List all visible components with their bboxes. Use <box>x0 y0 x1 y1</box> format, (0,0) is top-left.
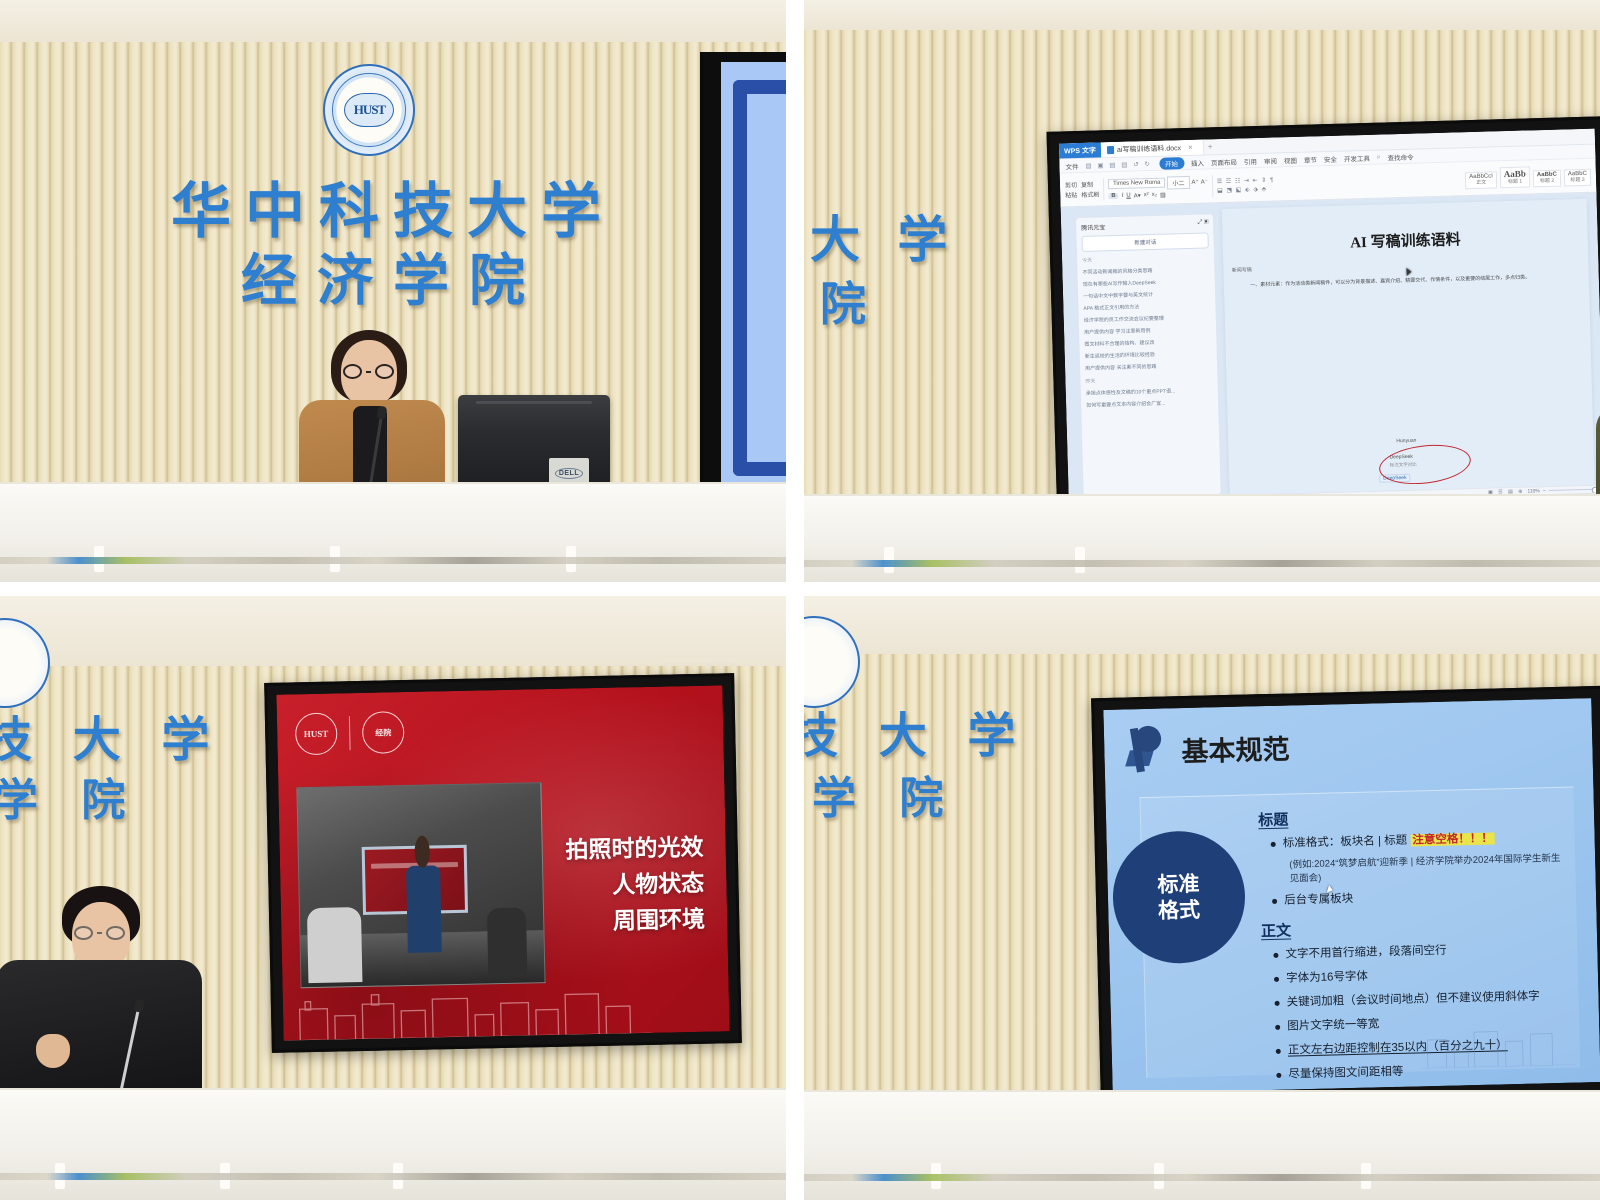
wall-signage-partial-line-2: 院 <box>820 268 876 334</box>
wall-signage-partial-line-1: 技 大 学 <box>0 700 221 770</box>
slide-header: 基本规范 <box>1121 721 1290 777</box>
slide-logos: HUST 经院 <box>295 711 405 755</box>
bullet-dot <box>1276 1073 1281 1078</box>
slide-line-1: 拍照时的光效 <box>565 831 704 870</box>
display-screen-surface[interactable]: WPS 文字 ai写稿训练语料.docx × + 文件 ▤ ▣ ▤ ▤ ↺ ↻ … <box>1059 129 1600 520</box>
font-group[interactable]: Times New Roma 小二 A⁺ A⁻ B I U A▾ x² <box>1108 175 1208 200</box>
podium-desk <box>0 1088 786 1200</box>
bullet-text: 标准格式：板块名 | 标题 注意空格！！！ <box>1283 832 1495 852</box>
bullet-dot <box>1275 1025 1280 1030</box>
wps-logo: WPS 文字 <box>1059 142 1101 158</box>
wall-signage-line-2: 经济学院 <box>0 236 786 317</box>
presentation-slide-blue: 基本规范 标准 格式 标题 标准格式：板块名 | 标题 <box>1103 698 1600 1094</box>
bullet-item: 字体为16号字体 <box>1274 965 1570 987</box>
brand-p-logo-icon <box>1121 724 1168 777</box>
cut-button[interactable]: 剪切 <box>1065 180 1077 189</box>
italic-button[interactable]: I <box>1122 193 1124 199</box>
slide-line-3: 周围环境 <box>567 902 706 941</box>
podium-notch <box>55 1163 65 1189</box>
grid-gap-horizontal <box>0 582 1600 596</box>
wall-signage-partial-line-1: 大 学 <box>810 200 957 272</box>
document-page[interactable]: AI 写稿训练语料 新闻写稿 一、素材元素：作为活动类新闻稿件，可以分为背景描述… <box>1222 199 1594 495</box>
panel-presenter-with-blue-slide: 技 大 学 学 院 基本规范 标准 <box>804 596 1600 1200</box>
document-tab[interactable]: ai写稿训练语料.docx × <box>1101 140 1204 158</box>
grow-font-icon[interactable]: A⁺ <box>1191 178 1198 185</box>
ai-panel-icons[interactable]: ⤢ ▣ <box>1197 219 1208 228</box>
menu-item-references[interactable]: 引用 <box>1244 156 1257 166</box>
document-heading-note: 新闻写稿 <box>1232 266 1252 274</box>
ai-assistant-panel[interactable]: 腾讯元宝 ⤢ ▣ 新建对话 今天 不同活动新闻稿的风格分类思路 现在有哪些AI写… <box>1075 213 1222 499</box>
podium-notch <box>393 1163 403 1189</box>
bullet-text: 图片文字统一等宽 <box>1287 1017 1379 1034</box>
podium-notch <box>330 546 340 572</box>
menu-item-security[interactable]: 安全 <box>1324 153 1337 163</box>
slide-text-lines: 拍照时的光效 人物状态 周围环境 <box>565 831 705 941</box>
display-screen-surface[interactable]: HUST 经院 <box>276 685 729 1040</box>
menu-item-page-layout[interactable]: 页面布局 <box>1211 156 1237 167</box>
document-tab-label: ai写稿训练语料.docx <box>1117 143 1181 155</box>
podium-desk <box>804 494 1600 582</box>
emblem-ring <box>332 73 406 147</box>
quick-access-icons[interactable]: ▤ ▣ ▤ ▤ ↺ ↻ <box>1085 159 1152 169</box>
logo-bowl <box>1133 724 1163 754</box>
podium-desk <box>0 482 786 582</box>
shrink-font-icon[interactable]: A⁻ <box>1201 178 1208 185</box>
superscript-icon[interactable]: x² <box>1144 192 1149 198</box>
menu-item-view[interactable]: 视图 <box>1284 154 1297 164</box>
new-chat-label: 新建对话 <box>1134 240 1156 247</box>
menu-item-file[interactable]: 文件 <box>1065 161 1078 171</box>
podium-desk <box>804 1090 1600 1200</box>
annotation-label: Hunyuan <box>1396 438 1416 445</box>
side-display-content <box>721 62 786 498</box>
bullet-dot <box>1276 1049 1281 1054</box>
presentation-slide-red: HUST 经院 <box>276 685 729 1040</box>
podium-monitor: DELL <box>458 395 610 487</box>
glasses-icon <box>74 926 125 940</box>
close-icon[interactable]: × <box>1184 143 1197 152</box>
document-icon <box>1107 146 1114 154</box>
podium-notch <box>1154 1163 1164 1189</box>
bullet-item: 关键词加粗（会议时间地点）但不建议使用斜体字 <box>1275 989 1571 1011</box>
wall-display-screen: WPS 文字 ai写稿训练语料.docx × + 文件 ▤ ▣ ▤ ▤ ↺ ↻ … <box>1047 116 1600 531</box>
clipboard-group-2[interactable]: 复制 格式刷 <box>1081 179 1100 198</box>
ceiling <box>804 596 1600 654</box>
style-label: 标题 3 <box>1568 178 1587 184</box>
ribbon-separator <box>1212 175 1214 197</box>
wall-signage-partial-line-1: 技 大 学 <box>804 696 1027 766</box>
font-size-select[interactable]: 小二 <box>1167 175 1189 189</box>
section-heading-title: 标题 <box>1258 802 1566 831</box>
list-icons-row[interactable]: ☰ ☲ ☷ ⇥ ⇤ ⇕ ¶ <box>1217 176 1275 185</box>
bullet-item: 文字不用首行缩进，段落间空行 <box>1273 941 1569 963</box>
text-color-icon[interactable]: A▾ <box>1134 192 1141 199</box>
grid-gap-vertical <box>786 0 804 1200</box>
podium-notch <box>1075 547 1085 573</box>
text-cursor-icon <box>1406 268 1411 276</box>
wall-display-screen: HUST 经院 <box>264 673 742 1053</box>
menu-item-developer[interactable]: 开发工具 <box>1344 152 1370 163</box>
menu-item-section[interactable]: 章节 <box>1304 154 1317 164</box>
side-display-panel <box>700 52 786 512</box>
photo-presenter <box>406 865 442 953</box>
podium-notch <box>931 1163 941 1189</box>
new-chat-button[interactable]: 新建对话 <box>1081 232 1209 252</box>
ceiling <box>804 0 1600 30</box>
ai-history-item[interactable]: 用户提供内容 关注素不同的思路 <box>1085 358 1213 374</box>
logo-divider <box>349 716 351 750</box>
panel-wps-writer-document-on-screen: 大 学 院 WPS 文字 ai写稿训练语料.docx × + <box>804 0 1600 582</box>
photo-collage-2x2: HUST 华中科技大学 经济学院 DELL <box>0 0 1600 1200</box>
zoom-out-button[interactable]: − <box>1543 488 1546 494</box>
document-title: AI 写稿训练语料 <box>1223 225 1588 256</box>
copy-button[interactable]: 复制 <box>1081 180 1093 189</box>
style-normal[interactable]: AaBbCcI 正文 <box>1465 171 1497 189</box>
bullet-dot <box>1274 977 1279 982</box>
bullet-highlight: 注意空格！！！ <box>1410 833 1495 847</box>
clipboard-group[interactable]: 剪切 粘贴 <box>1065 180 1078 199</box>
bullet-example: (例如:2024“筑梦启航”迎新季 | 经济学院举办2024年国际学生新生见面会… <box>1289 850 1567 885</box>
wps-writer-window[interactable]: WPS 文字 ai写稿训练语料.docx × + 文件 ▤ ▣ ▤ ▤ ↺ ↻ … <box>1059 129 1600 520</box>
skyline-graphic <box>1419 1014 1576 1068</box>
wall-signage-partial-line-2: 学 院 <box>0 764 139 828</box>
photo-audience-right <box>487 907 527 975</box>
menu-item-home[interactable]: 开始 <box>1159 157 1184 170</box>
ribbon-separator <box>1103 178 1105 200</box>
slide-embedded-photo <box>296 783 545 989</box>
bullet-item: 后台专属板块 <box>1272 887 1568 909</box>
presenter-figure <box>22 886 202 1116</box>
bullet-dot <box>1271 842 1276 847</box>
school-seal-icon: 经院 <box>362 711 405 754</box>
align-icons-row[interactable]: ⬓ ⬔ ⬕ ⬖ ⬗ ⬘ <box>1217 185 1267 193</box>
bullet-text-main: 标准格式：板块名 | 标题 <box>1283 835 1411 850</box>
search-icon[interactable]: ⌕ <box>1377 153 1381 161</box>
skyline-graphic <box>283 978 653 1041</box>
seal-text: 经院 <box>375 727 391 738</box>
bullet-text: 关键词加粗（会议时间地点）但不建议使用斜体字 <box>1287 989 1540 1010</box>
zoom-slider[interactable] <box>1549 488 1599 491</box>
photo-audience-left <box>307 907 362 984</box>
style-heading-1[interactable]: AaBb 标题 1 <box>1500 167 1531 188</box>
new-tab-button[interactable]: + <box>1204 142 1217 151</box>
bullet-text: 后台专属板块 <box>1284 892 1353 909</box>
style-heading-2[interactable]: AaBbC 标题 2 <box>1533 169 1561 186</box>
ai-panel-header: 腾讯元宝 ⤢ ▣ <box>1081 219 1209 232</box>
panel-presenter-with-red-slide: 技 大 学 学 院 HUST 经院 <box>0 596 786 1200</box>
bullet-text: 文字不用首行缩进，段落间空行 <box>1285 944 1446 963</box>
bullet-dot <box>1274 953 1279 958</box>
podium-notch <box>884 547 894 573</box>
style-label: 标题 2 <box>1537 178 1557 184</box>
menu-item-insert[interactable]: 插入 <box>1191 157 1204 167</box>
bullet-text: 字体为16号字体 <box>1286 970 1368 987</box>
seal-text: HUST <box>304 729 329 740</box>
wall-display-screen: 基本规范 标准 格式 标题 标准格式：板块名 | 标题 <box>1091 686 1600 1106</box>
section-heading-body: 正文 <box>1261 913 1569 942</box>
wall-signage-partial-line-2: 学 院 <box>812 762 957 826</box>
bold-button[interactable]: B <box>1108 193 1119 199</box>
highlight-icon[interactable]: ▨ <box>1160 191 1166 198</box>
display-screen-surface[interactable]: 基本规范 标准 格式 标题 标准格式：板块名 | 标题 <box>1103 698 1600 1094</box>
menu-item-review[interactable]: 审阅 <box>1264 155 1277 165</box>
document-workspace[interactable]: 腾讯元宝 ⤢ ▣ 新建对话 今天 不同活动新闻稿的风格分类思路 现在有哪些AI写… <box>1061 193 1600 500</box>
underline-button[interactable]: U <box>1126 193 1131 199</box>
slide-title: 基本规范 <box>1181 727 1290 769</box>
university-seal-icon: HUST <box>295 712 338 755</box>
gesturing-hand <box>36 1034 70 1068</box>
ceiling <box>0 0 786 42</box>
slide-content-card: 标准 格式 标题 标准格式：板块名 | 标题 注意空格！！！ <box>1140 787 1581 1078</box>
podium-notch <box>566 546 576 572</box>
command-search-label[interactable]: 查找命令 <box>1387 151 1413 162</box>
podium-notch <box>94 546 104 572</box>
bullet-item: 标准格式：板块名 | 标题 注意空格！！！ <box>1271 830 1567 852</box>
podium-notch <box>220 1163 230 1189</box>
style-label: 正文 <box>1469 180 1493 186</box>
font-name-select[interactable]: Times New Roma <box>1108 178 1166 190</box>
ai-panel-title: 腾讯元宝 <box>1081 222 1105 232</box>
glasses-icon <box>343 364 394 379</box>
paste-button[interactable]: 粘贴 <box>1065 190 1077 199</box>
style-heading-3[interactable]: AaBbC 标题 3 <box>1564 169 1591 186</box>
slide-line-2: 人物状态 <box>566 867 705 906</box>
standard-format-badge: 标准 格式 <box>1111 829 1246 964</box>
paragraph-group[interactable]: ☰ ☲ ☷ ⇥ ⇤ ⇕ ¶ ⬓ ⬔ ⬕ ⬖ ⬗ ⬘ <box>1217 176 1275 194</box>
badge-line-1: 标准 <box>1157 870 1200 897</box>
ai-history-item[interactable]: 如何写重要点文本内容介绍会广宣... <box>1086 395 1214 411</box>
bullet-text: 尽量保持图文间距相等 <box>1288 1065 1403 1083</box>
panel-speaker-at-podium-wall-signage: HUST 华中科技大学 经济学院 DELL <box>0 0 786 582</box>
university-emblem: HUST <box>323 64 415 156</box>
podium-notch <box>1361 1163 1371 1189</box>
monitor-brand-text: DELL <box>555 468 583 479</box>
bullet-dot <box>1275 1001 1280 1006</box>
style-gallery[interactable]: AaBbCcI 正文 AaBb 标题 1 AaBbC 标题 2 <box>1465 165 1591 189</box>
subscript-icon[interactable]: x₂ <box>1152 192 1158 198</box>
style-label: 标题 1 <box>1504 179 1526 185</box>
format-painter-button[interactable]: 格式刷 <box>1081 189 1099 198</box>
bullet-dot <box>1272 899 1277 904</box>
badge-line-2: 格式 <box>1158 897 1201 924</box>
ceiling <box>0 596 786 666</box>
